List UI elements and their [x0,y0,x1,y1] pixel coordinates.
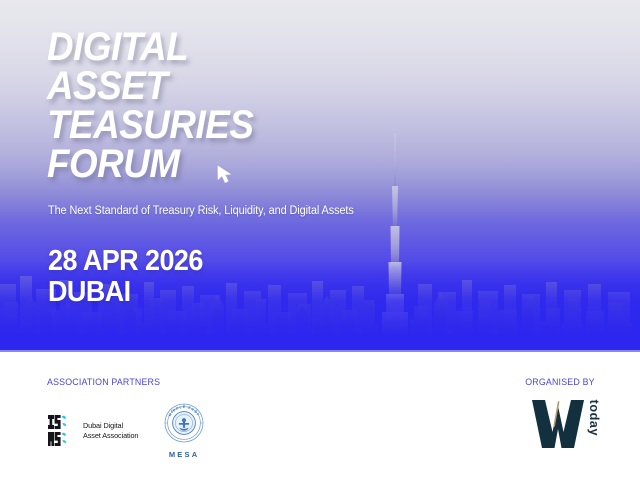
partner-logo-mesa[interactable]: MIDDLE EAST MESA [162,402,206,459]
partner-logo-dubai-digital-asset-association[interactable]: Dubai Digital Asset Association [47,414,140,448]
event-tagline: The Next Standard of Treasury Risk, Liqu… [48,205,354,217]
association-partners-label: ASSOCIATION PARTNERS [47,377,160,388]
partner-wordmark-mesa: MESA [162,450,206,459]
event-title: DIGITAL ASSET TEASURIES FORUM [47,28,253,184]
event-city: DUBAI [48,277,131,308]
w-today-logo-icon [530,396,586,452]
organised-by-label: ORGANISED BY [525,377,595,388]
organiser-wordmark: today [587,400,602,437]
mouse-cursor-arrow-icon [216,164,234,186]
partner-wordmark-ddaa: Dubai Digital Asset Association [83,421,138,441]
event-banner: DIGITAL ASSET TEASURIES FORUM The Next S… [0,0,640,480]
hero-section: DIGITAL ASSET TEASURIES FORUM The Next S… [0,0,640,352]
association-partner-logos: Dubai Digital Asset Association [47,402,206,459]
mesa-seal-icon: MIDDLE EAST [163,402,205,444]
organiser-logo-w-today[interactable]: today [530,396,602,452]
partners-footer: ASSOCIATION PARTNERS ORGANISED BY Duba [0,352,640,480]
d3a-monogram-icon [47,414,77,448]
event-date: 28 APR 2026 [48,246,203,277]
